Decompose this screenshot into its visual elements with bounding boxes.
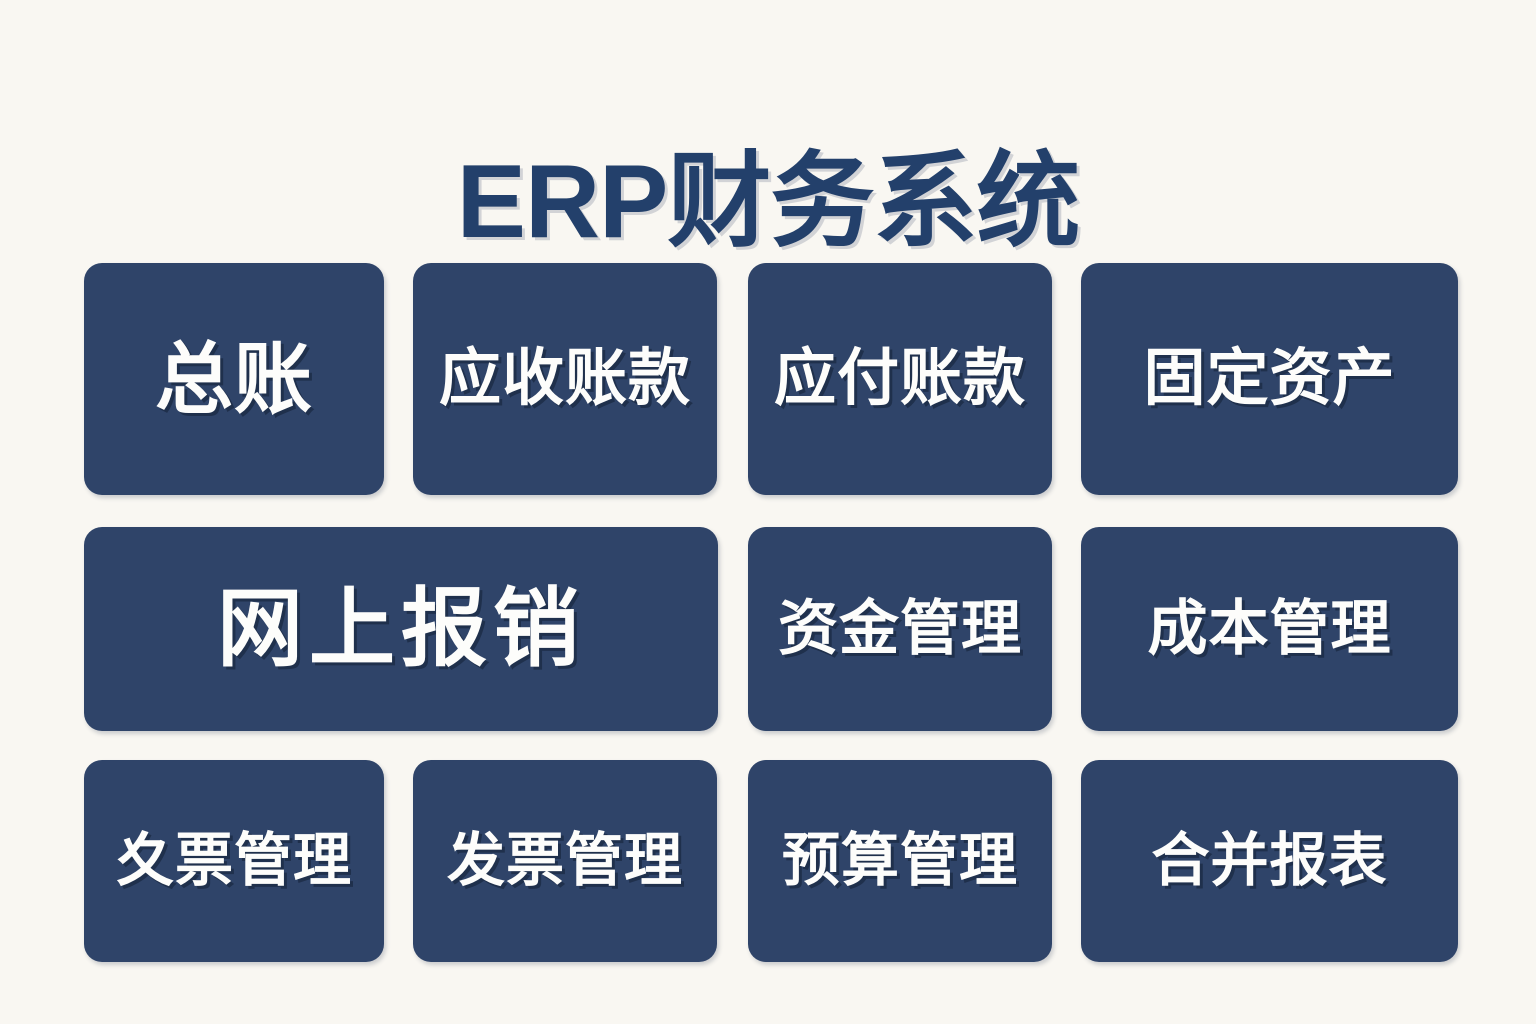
module-tile-label: 总账	[155, 338, 313, 420]
module-tile-label: 合并报表	[1151, 830, 1387, 892]
module-tile-general-ledger[interactable]: 总账	[84, 263, 384, 495]
erp-finance-system-poster: ERP财务系统 总账 应收账款 应付账款 固定资产 网上报销 资金管理	[0, 0, 1536, 1024]
tile-row-2: 网上报销 资金管理 成本管理	[84, 527, 1458, 731]
module-tile-grid: 总账 应收账款 应付账款 固定资产 网上报销 资金管理 成本管理	[84, 263, 1458, 963]
module-tile-cost-management[interactable]: 成本管理	[1081, 527, 1458, 731]
module-tile-accounts-payable[interactable]: 应付账款	[748, 263, 1052, 495]
module-tile-label: 资金管理	[778, 597, 1022, 661]
module-tile-label: 夊票管理	[116, 830, 352, 892]
module-tile-label: 应付账款	[774, 346, 1026, 412]
module-tile-invoice-management[interactable]: 发票管理	[413, 760, 717, 962]
module-tile-budget-management[interactable]: 预算管理	[748, 760, 1052, 962]
tile-row-3: 夊票管理 发票管理 预算管理 合并报表	[84, 760, 1458, 962]
module-tile-label: 网上报销	[217, 583, 585, 675]
module-tile-label: 成本管理	[1148, 597, 1392, 661]
tile-row-1: 总账 应收账款 应付账款 固定资产	[84, 263, 1458, 495]
module-tile-label: 预算管理	[782, 830, 1018, 892]
module-tile-label: 发票管理	[447, 830, 683, 892]
module-tile-consolidated-reports[interactable]: 合并报表	[1081, 760, 1458, 962]
module-tile-label: 固定资产	[1143, 346, 1395, 412]
module-tile-treasury-management[interactable]: 资金管理	[748, 527, 1052, 731]
module-tile-bill-management[interactable]: 夊票管理	[84, 760, 384, 962]
module-tile-online-reimbursement[interactable]: 网上报销	[84, 527, 718, 731]
module-tile-fixed-assets[interactable]: 固定资产	[1081, 263, 1458, 495]
page-title: ERP财务系统	[457, 142, 1080, 262]
module-tile-accounts-receivable[interactable]: 应收账款	[413, 263, 717, 495]
module-tile-label: 应收账款	[439, 346, 691, 412]
